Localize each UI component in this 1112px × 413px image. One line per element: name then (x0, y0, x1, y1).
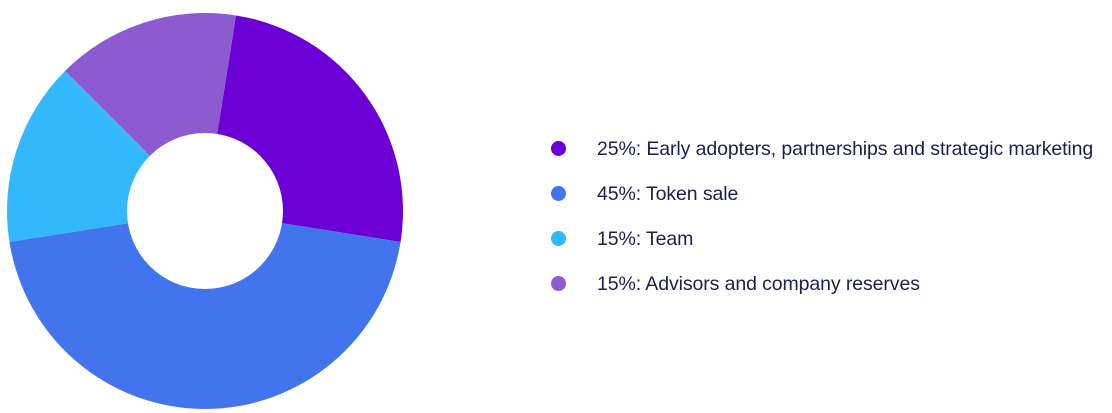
legend-item-label: 45%: Token sale (597, 183, 738, 205)
chart-legend: 25%: Early adopters, partnerships and st… (551, 126, 1106, 306)
legend-item-token-sale[interactable]: 45%: Token sale (551, 171, 1106, 216)
legend-swatch-icon (551, 231, 566, 246)
legend-item-label: 25%: Early adopters, partnerships and st… (597, 138, 1093, 160)
legend-item-label: 15%: Advisors and company reserves (597, 273, 920, 295)
token-distribution-chart-page: 25%: Early adopters, partnerships and st… (0, 0, 1112, 413)
legend-swatch-icon (551, 141, 566, 156)
donut-chart (7, 13, 403, 409)
legend-item-team[interactable]: 15%: Team (551, 216, 1106, 261)
donut-center-hole (127, 133, 283, 289)
donut-chart-svg (7, 13, 403, 409)
legend-item-label: 15%: Team (597, 228, 693, 250)
legend-item-advisors-reserves[interactable]: 15%: Advisors and company reserves (551, 261, 1106, 306)
legend-item-early-adopters[interactable]: 25%: Early adopters, partnerships and st… (551, 126, 1106, 171)
legend-swatch-icon (551, 276, 566, 291)
legend-swatch-icon (551, 186, 566, 201)
